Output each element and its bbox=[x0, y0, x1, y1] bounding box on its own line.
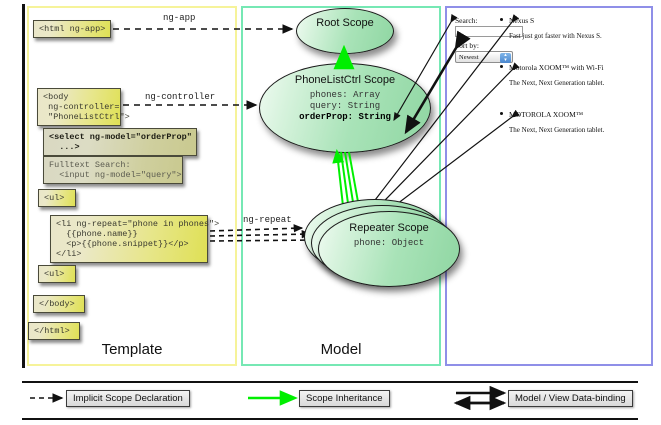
phone-name: MOTOROLA XOOM™ bbox=[509, 110, 604, 119]
scope-root-inner: Root Scope bbox=[297, 9, 393, 30]
edge-label-ng-app: ng-app bbox=[163, 13, 195, 23]
bullet-icon bbox=[500, 18, 503, 21]
code-block-body-open: <body ng-controller= "PhoneListCtrl"> bbox=[37, 88, 121, 126]
view-browser-mock: Search: Sort by: Newest ▴▾ Nexus S Fast … bbox=[449, 10, 649, 358]
legend-model-view-data-binding: Model / View Data-binding bbox=[508, 390, 633, 407]
sort-by-select[interactable]: Newest ▴▾ bbox=[455, 51, 513, 63]
scope-prop-query: query: String bbox=[260, 101, 430, 112]
legend-implicit-scope-declaration: Implicit Scope Declaration bbox=[66, 390, 190, 407]
scope-prop-phones: phones: Array bbox=[260, 90, 430, 101]
phone-list-item[interactable]: Nexus S Fast just got faster with Nexus … bbox=[509, 16, 602, 40]
scope-phonelistctrl-props: phones: Array query: String orderProp: S… bbox=[260, 90, 430, 123]
phone-snippet: Fast just got faster with Nexus S. bbox=[509, 32, 602, 40]
legend-rule-top bbox=[22, 381, 638, 383]
phone-snippet: The Next, Next Generation tablet. bbox=[509, 126, 604, 134]
phone-name: Motorola XOOM™ with Wi-Fi bbox=[509, 63, 604, 72]
edge-label-ng-controller: ng-controller bbox=[145, 92, 215, 102]
diagram-canvas: Template Model View <html ng-app> <body … bbox=[0, 0, 661, 425]
scope-phonelistctrl-inner: PhoneListCtrl Scope phones: Array query:… bbox=[260, 64, 430, 123]
panel-template-label: Template bbox=[29, 341, 235, 358]
code-block-fulltext-search: Fulltext Search: <input ng-model="query"… bbox=[43, 156, 183, 184]
scope-repeater-inner: Repeater Scope phone: Object bbox=[319, 212, 459, 249]
scope-phonelistctrl: PhoneListCtrl Scope phones: Array query:… bbox=[259, 63, 431, 153]
code-block-ul-open: <ul> bbox=[38, 189, 76, 207]
code-block-body-close: </body> bbox=[33, 295, 85, 313]
bullet-icon bbox=[500, 65, 503, 68]
phone-name: Nexus S bbox=[509, 16, 602, 25]
bullet-icon bbox=[500, 112, 503, 115]
scope-repeater: Repeater Scope phone: Object bbox=[318, 211, 460, 287]
legend-scope-inheritance: Scope Inheritance bbox=[299, 390, 390, 407]
legend-rule-bottom bbox=[22, 418, 638, 420]
scope-prop-orderprop: orderProp: String bbox=[260, 112, 430, 123]
sort-by-selected-value: Newest bbox=[459, 54, 479, 61]
left-rail bbox=[22, 4, 25, 368]
phone-list-item[interactable]: Motorola XOOM™ with Wi-Fi The Next, Next… bbox=[509, 63, 604, 87]
phone-list-item[interactable]: MOTOROLA XOOM™ The Next, Next Generation… bbox=[509, 110, 604, 134]
panel-model-label: Model bbox=[243, 341, 439, 358]
scope-root-title: Root Scope bbox=[297, 17, 393, 30]
panel-model: Model bbox=[241, 6, 441, 366]
code-block-html-close: </html> bbox=[28, 322, 80, 340]
chevron-updown-icon: ▴▾ bbox=[500, 53, 511, 63]
phone-snippet: The Next, Next Generation tablet. bbox=[509, 79, 604, 87]
scope-phonelistctrl-title: PhoneListCtrl Scope bbox=[260, 74, 430, 87]
code-block-li-ng-repeat: <li ng-repeat="phone in phones"> {{phone… bbox=[50, 215, 208, 263]
code-block-html-open: <html ng-app> bbox=[33, 20, 111, 38]
scope-root: Root Scope bbox=[296, 8, 394, 54]
code-block-select-orderprop: <select ng-model="orderProp" ...> bbox=[43, 128, 197, 156]
sort-by-label: Sort by: bbox=[455, 41, 479, 50]
code-block-ul-close: <ul> bbox=[38, 265, 76, 283]
edge-label-ng-repeat: ng-repeat bbox=[243, 215, 292, 225]
panel-model-shadow bbox=[243, 8, 439, 364]
scope-repeater-props: phone: Object bbox=[319, 238, 459, 249]
search-label: Search: bbox=[455, 16, 478, 25]
scope-repeater-title: Repeater Scope bbox=[319, 222, 459, 235]
scope-prop-phone: phone: Object bbox=[319, 238, 459, 249]
